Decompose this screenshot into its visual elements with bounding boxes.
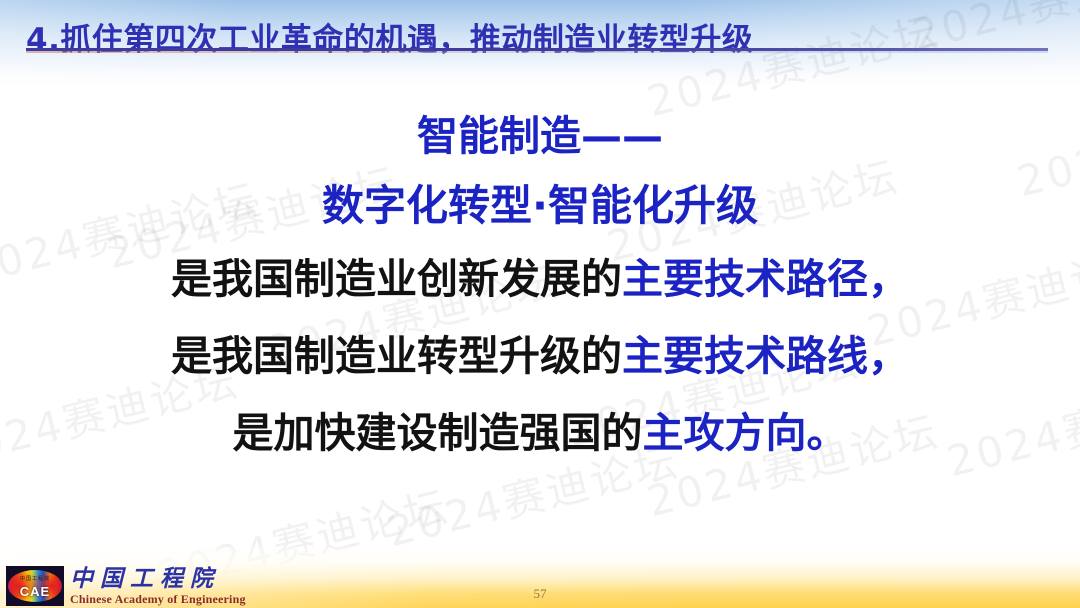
body-line-1-text: 智能制造—— bbox=[417, 112, 663, 160]
body-line-4-black: 是我国制造业转型升级的 bbox=[171, 332, 622, 380]
body-line-2: 数字化转型·智能化升级 bbox=[0, 185, 1080, 227]
body-line-5: 是加快建设制造强国的主攻方向。 bbox=[0, 413, 1080, 454]
slide-root: 2024赛迪论坛2024赛迪论坛2024赛迪论坛2024赛迪论坛2024赛迪论坛… bbox=[0, 0, 1080, 608]
page-number: 57 bbox=[0, 586, 1080, 602]
cae-emblem-micro-text: 中国工程院 bbox=[6, 575, 64, 582]
slide-title-wrap: 4.抓住第四次工业革命的机遇，推动制造业转型升级 bbox=[0, 22, 1080, 59]
body-line-1: 智能制造—— bbox=[0, 116, 1080, 157]
body-line-4: 是我国制造业转型升级的主要技术路线， bbox=[0, 336, 1080, 377]
body-line-3-black: 是我国制造业创新发展的 bbox=[171, 255, 622, 303]
body-line-2-text: 数字化转型·智能化升级 bbox=[322, 181, 758, 230]
slide-body: 智能制造—— 数字化转型·智能化升级 是我国制造业创新发展的主要技术路径， 是我… bbox=[0, 116, 1080, 454]
page-title: 4.抓住第四次工业革命的机遇，推动制造业转型升级 bbox=[0, 22, 1080, 59]
title-underline-accent bbox=[26, 51, 1048, 53]
body-line-3: 是我国制造业创新发展的主要技术路径， bbox=[0, 259, 1080, 300]
body-line-3-blue: 主要技术路径， bbox=[622, 255, 909, 303]
body-line-5-blue: 主攻方向。 bbox=[643, 409, 848, 457]
body-line-5-black: 是加快建设制造强国的 bbox=[233, 409, 643, 457]
body-line-4-blue: 主要技术路线， bbox=[622, 332, 909, 380]
